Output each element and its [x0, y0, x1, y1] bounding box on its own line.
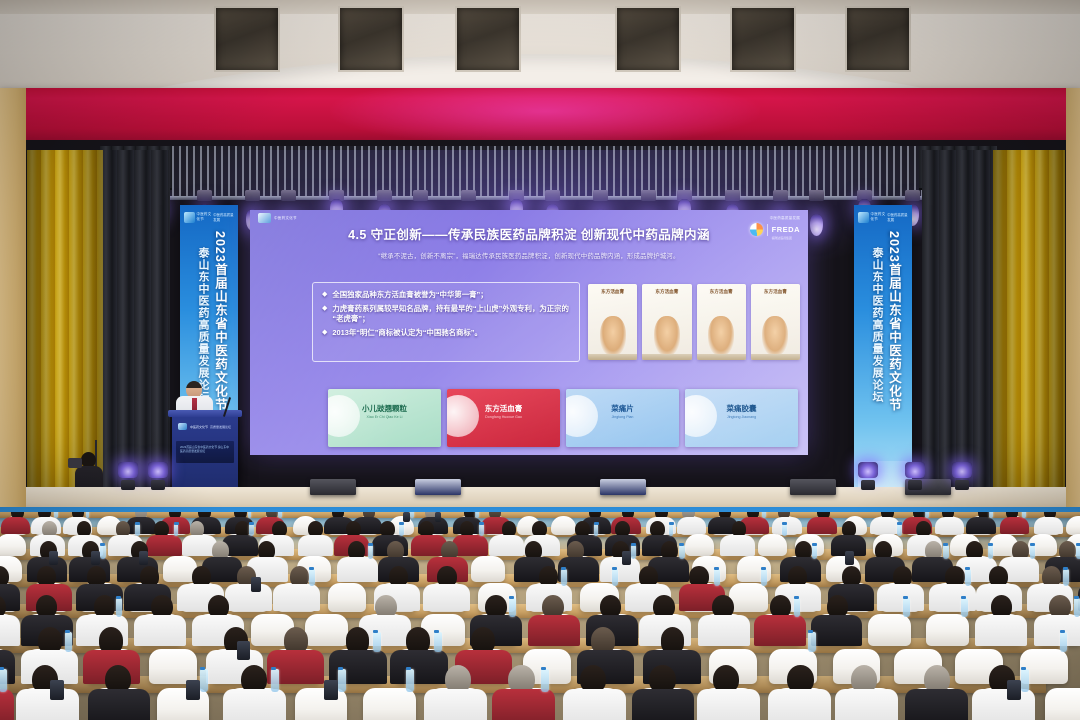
water-bottle [373, 632, 380, 653]
audience-person-torso [698, 615, 750, 646]
audience-person-torso [126, 517, 156, 535]
bottle-cap [988, 543, 993, 546]
bottle-cap [812, 543, 817, 546]
water-bottle [1030, 545, 1035, 560]
audience-seating [0, 512, 1080, 720]
ceiling-panel [455, 6, 521, 72]
audience-person-torso [225, 584, 271, 612]
water-bottle [808, 632, 815, 653]
audience-person-torso [632, 689, 695, 720]
audience-chair [328, 583, 367, 612]
moving-light-head [148, 462, 168, 478]
mobile-phone [845, 551, 854, 564]
ceiling-panel [730, 6, 796, 72]
slide-bullet-text: 全国独家品种东方活血膏被誉为“中华第一膏”； [332, 290, 487, 301]
ceiling-panel [615, 6, 681, 72]
audience-chair [685, 534, 714, 556]
audience-person-torso [134, 615, 186, 646]
right-wall [1066, 88, 1080, 533]
audience-chair [758, 534, 787, 556]
floor-monitor-speaker [415, 479, 461, 495]
bottle-cap [669, 522, 674, 525]
water-bottle [612, 569, 618, 586]
medicine-name: 菜痛胶囊 [685, 403, 798, 414]
floor-monitor-speaker [310, 479, 356, 495]
podium-band-text: 2023首届山东省中医药文化节 泰山东中医药高质量发展论坛 [176, 441, 234, 457]
audience-person-torso [600, 557, 641, 581]
moving-head-light [905, 462, 925, 490]
water-bottle [925, 512, 929, 518]
mobile-phone [237, 641, 250, 660]
freda-name: FREDA [772, 225, 800, 234]
water-bottle [897, 524, 902, 537]
audience-person-torso [1, 517, 31, 535]
audience-person-torso [273, 584, 319, 612]
bottle-cap [714, 567, 719, 570]
audience-person-torso [677, 517, 707, 535]
red-band-light-glow [330, 88, 760, 146]
audience-person-torso [835, 689, 898, 720]
audience-person-torso [492, 689, 555, 720]
audience-person-torso [390, 650, 447, 684]
medicine-name: 小儿豉翘颗粒 [328, 403, 441, 414]
water-bottle [1060, 632, 1067, 653]
bottle-cap [594, 522, 599, 525]
water-bottle [278, 512, 282, 518]
slide-bullet-text: 力虎膏药系列属较早知名品牌，持有最早的“上山虎”外观专利，为正宗的“老虎膏”； [332, 304, 570, 325]
ceiling-panel [338, 6, 404, 72]
audience-person-torso [88, 689, 151, 720]
left-banner-logo-text: 中医药文化节 [197, 212, 214, 222]
audience-chair [1045, 688, 1080, 720]
right-event-banner: 中医药文化节 中医药高质量发展 2023首届山东省中医药文化节 泰山东中医药高质… [854, 205, 912, 505]
stage-lamp-yoke [377, 190, 392, 201]
right-yellow-curtain [993, 150, 1065, 522]
ceiling-strip [0, 0, 1080, 14]
audience-chair [868, 614, 911, 646]
podium-logo-icon [178, 423, 187, 430]
water-bottle [0, 669, 7, 692]
stage-lamp-yoke [809, 190, 824, 201]
water-bottle [631, 545, 636, 560]
audience-person-torso [1034, 517, 1064, 535]
freda-tagline: 福瑞达医药集团 [772, 237, 800, 240]
bottle-cap [65, 630, 70, 633]
water-bottle [410, 512, 414, 518]
bottle-cap [200, 667, 205, 670]
podium-logo: 中医药文化节 [178, 423, 208, 430]
audience-person-torso [0, 615, 20, 646]
bottle-cap [1063, 567, 1068, 570]
stage-lamp-yoke [545, 190, 560, 201]
bottle-cap [1076, 543, 1080, 546]
audience-person-torso [298, 535, 333, 556]
mobile-phone [186, 680, 200, 700]
right-banner-title: 2023首届山东省中医药文化节 [885, 231, 904, 411]
product-package-title: 东方活血膏 [751, 289, 800, 295]
audience-chair [1066, 516, 1080, 535]
festival-logo-icon [858, 212, 869, 223]
video-camera-icon [68, 458, 82, 468]
stage-lamp-yoke [905, 190, 920, 201]
product-artwork [600, 316, 626, 356]
water-bottle [961, 598, 968, 617]
bottle-cap [561, 567, 566, 570]
bottle-cap [309, 567, 314, 570]
bottle-cap [679, 543, 684, 546]
product-package-title: 东方活血膏 [588, 289, 637, 295]
stage-lamp-yoke [197, 190, 212, 201]
podium-side-tag: 高质量发展论坛 [210, 425, 231, 429]
audience-person-torso [870, 517, 900, 535]
bottle-cap [406, 667, 411, 670]
product-bottom-bar [642, 354, 691, 360]
audience-chair [295, 688, 347, 720]
ceiling-panel [214, 6, 280, 72]
mobile-phone [403, 512, 410, 522]
water-bottle [943, 545, 948, 560]
bottle-cap [399, 522, 404, 525]
audience-person-torso [0, 689, 14, 720]
water-bottle [309, 569, 315, 586]
water-bottle [479, 524, 484, 537]
stage-lamp-yoke [461, 190, 476, 201]
water-bottle [812, 545, 817, 560]
water-bottle [1076, 545, 1080, 560]
bottle-cap [135, 522, 140, 525]
water-bottle [248, 512, 252, 518]
moving-light-base [908, 480, 922, 490]
medicine-box: 菜痛胶囊Jingtong Jiaonang [685, 389, 798, 447]
bottle-cap [631, 543, 636, 546]
bottle-cap [434, 630, 439, 633]
audience-person-torso [929, 584, 975, 612]
left-wall [0, 88, 26, 533]
audience-person-torso [877, 584, 923, 612]
bottle-cap [903, 596, 908, 599]
moving-light-base [955, 480, 969, 490]
stage-lamp-yoke [413, 190, 428, 201]
ceiling-panel [845, 6, 911, 72]
medicine-pinyin: Xiao Er Chi Qiao Ke Li [328, 415, 441, 419]
stage-lamp-yoke [245, 190, 260, 201]
product-package-title: 东方活血膏 [697, 289, 746, 295]
freda-divider [767, 224, 768, 236]
water-bottle [434, 632, 441, 653]
product-package-image: 东方活血膏 [642, 284, 691, 360]
audience-person-torso [697, 689, 760, 720]
mobile-phone [50, 680, 64, 700]
audience-chair [926, 614, 969, 646]
bottle-cap [961, 596, 966, 599]
bottle-cap [808, 630, 813, 633]
water-bottle [669, 524, 674, 537]
bottle-cap [368, 543, 373, 546]
audience-person-torso [768, 689, 831, 720]
product-artwork [654, 316, 680, 356]
water-bottle [406, 669, 414, 692]
bottle-cap [100, 543, 105, 546]
medicine-name: 东方活血膏 [447, 403, 560, 414]
left-banner-header: 中医药文化节 中医药高质量发展 [184, 209, 234, 225]
moving-light-base [121, 480, 135, 490]
freda-wordmark: FREDA 福瑞达医药集团 [772, 220, 800, 240]
water-bottle [1063, 569, 1069, 586]
bottle-cap [965, 567, 970, 570]
bottle-cap [509, 596, 514, 599]
mobile-phone [324, 680, 338, 700]
moving-light-base [861, 480, 875, 490]
mobile-phone [91, 551, 100, 564]
left-banner-corner-text: 中医药高质量发展 [213, 212, 234, 222]
bottle-cap [249, 522, 254, 525]
bullet-diamond-icon: ◆ [322, 304, 327, 325]
audience-person-torso [337, 557, 378, 581]
water-bottle [116, 598, 123, 617]
water-bottle [1074, 598, 1080, 617]
audience-person-torso [807, 517, 837, 535]
product-package-title: 东方活血膏 [642, 289, 691, 295]
medicine-pinyin: Jingtong Jiaonang [685, 415, 798, 419]
bottle-cap [373, 630, 378, 633]
moving-light-base [151, 480, 165, 490]
audience-person-torso [720, 535, 755, 556]
audience-chair [149, 649, 197, 685]
water-bottle [135, 524, 140, 537]
stage-lamp [810, 214, 823, 236]
water-bottle [368, 545, 373, 560]
water-bottle [100, 545, 105, 560]
audience-person-torso [16, 689, 79, 720]
stage-lamp-yoke [641, 190, 656, 201]
water-bottle [399, 524, 404, 537]
mobile-phone [1007, 680, 1021, 700]
festival-logo-icon [184, 212, 195, 223]
slide-header-logo-text: 中医药文化节 [274, 216, 297, 221]
audience-person-torso [811, 615, 863, 646]
water-bottle [782, 524, 787, 537]
bottle-cap [479, 522, 484, 525]
product-artwork [762, 316, 788, 356]
stage-lamp-yoke [773, 190, 788, 201]
audience-chair [363, 688, 415, 720]
water-bottle [965, 569, 971, 586]
mobile-phone [622, 551, 631, 564]
right-banner-subtitle: 泰山东中医药高质量发展论坛 [869, 247, 885, 403]
podium-logo-text: 中医药文化节 [190, 425, 208, 429]
bottle-cap [612, 567, 617, 570]
water-bottle [762, 512, 766, 518]
audience-person-torso [1034, 615, 1080, 646]
floor-monitor-speaker [600, 479, 646, 495]
stage-lamp-yoke [725, 190, 740, 201]
water-bottle [903, 598, 910, 617]
water-bottle [338, 669, 346, 692]
bottle-cap [1060, 630, 1065, 633]
slide-bullet-item: ◆全国独家品种东方活血膏被誉为“中华第一膏”； [322, 290, 570, 301]
bottle-cap [116, 596, 121, 599]
medicine-box: 东方活血膏Dongfang Huoxue Gao [447, 389, 560, 447]
product-package-image: 东方活血膏 [751, 284, 800, 360]
stage-lamp-yoke [281, 190, 296, 201]
water-bottle [679, 545, 684, 560]
bottle-cap [541, 667, 546, 670]
projection-screen: 中医药文化节 中医药高质量发展 4.5 守正创新——传承民族医药品牌积淀 创新现… [250, 210, 808, 455]
mobile-phone [435, 512, 442, 522]
audience-person-torso [563, 689, 626, 720]
slide-bullet-card: ◆全国独家品种东方活血膏被誉为“中华第一膏”；◆力虎膏药系列属较早知名品牌，持有… [312, 282, 580, 362]
mobile-phone [251, 577, 261, 592]
bottle-cap [1030, 543, 1035, 546]
water-bottle [1021, 669, 1029, 692]
audience-chair [0, 534, 26, 556]
moving-head-light [952, 462, 972, 490]
slide-bullet-text: 2013年“明仁”商标被认定为“中国驰名商标”。 [332, 328, 481, 339]
audience-person-torso [972, 689, 1035, 720]
audience-chair [551, 516, 576, 535]
audience-chair [305, 614, 348, 646]
medicine-box: 菜痛片Jingtong Pian [566, 389, 679, 447]
bottle-cap [271, 667, 276, 670]
bottle-cap [1021, 667, 1026, 670]
right-banner-logo-text: 中医药文化节 [871, 212, 888, 222]
moving-head-light [118, 462, 138, 490]
water-bottle [714, 569, 720, 586]
water-bottle [761, 569, 767, 586]
audience-person-torso [223, 689, 286, 720]
slide-bullet-item: ◆力虎膏药系列属较早知名品牌，持有最早的“上山虎”外观专利，为正宗的“老虎膏”； [322, 304, 570, 325]
slide-medicine-boxes: 小儿豉翘颗粒Xiao Er Chi Qiao Ke Li东方活血膏Dongfan… [328, 389, 798, 447]
medicine-pinyin: Dongfang Huoxue Gao [447, 415, 560, 419]
audience-person-torso [772, 517, 802, 535]
left-banner-subtitle: 泰山东中医药高质量发展论坛 [195, 247, 211, 403]
moving-light-head [118, 462, 138, 478]
water-bottle [988, 545, 993, 560]
moving-light-head [905, 462, 925, 478]
water-bottle [594, 524, 599, 537]
slide-title: 4.5 守正创新——传承民族医药品牌积淀 创新现代中药品牌内涵 [250, 224, 808, 243]
moving-head-light [858, 462, 878, 490]
bottle-cap [174, 522, 179, 525]
medicine-box: 小儿豉翘颗粒Xiao Er Chi Qiao Ke Li [328, 389, 441, 447]
bottle-cap [943, 543, 948, 546]
product-artwork [708, 316, 734, 356]
water-bottle [200, 669, 208, 692]
water-bottle [86, 512, 90, 518]
freda-mark-icon [750, 223, 763, 236]
audience-person-torso [146, 535, 181, 556]
freda-brand-logo: FREDA 福瑞达医药集团 [750, 220, 800, 240]
water-bottle [271, 669, 279, 692]
medicine-name: 菜痛片 [566, 403, 679, 414]
right-banner-header: 中医药文化节 中医药高质量发展 [858, 209, 908, 225]
audience-person-torso [935, 517, 965, 535]
bottle-cap [761, 567, 766, 570]
bullet-diamond-icon: ◆ [322, 328, 327, 339]
bottle-cap [794, 596, 799, 599]
podium-band: 2023首届山东省中医药文化节 泰山东中医药高质量发展论坛 [176, 441, 234, 463]
water-bottle [174, 524, 179, 537]
moving-head-light [148, 462, 168, 490]
bottle-cap [897, 522, 902, 525]
slide-subtitle: “继承不泥古，创新不离宗”，福瑞达传承民族医药品牌积淀，创新现代中药品牌内涵，形… [278, 251, 780, 260]
moving-light-head [858, 462, 878, 478]
audience-person-torso [424, 689, 487, 720]
slide-product-images: 东方活血膏东方活血膏东方活血膏东方活血膏 [588, 284, 800, 360]
slide-bullet-item: ◆2013年“明仁”商标被认定为“中国驰名商标”。 [322, 328, 570, 339]
podium-top-surface [168, 410, 242, 417]
bottle-cap [1074, 596, 1079, 599]
audience-chair [157, 688, 209, 720]
audience-person-torso [528, 615, 580, 646]
audience-chair [729, 583, 768, 612]
audience-person-torso [975, 615, 1027, 646]
audience-person-torso [1000, 517, 1030, 535]
audience-person-torso [966, 517, 996, 535]
conference-hall-photo: 中医药文化节 中医药高质量发展 2023首届山东省中医药文化节 泰山东中医药高质… [0, 0, 1080, 720]
mobile-phone [139, 551, 148, 564]
floor-monitor-speaker [790, 479, 836, 495]
bullet-diamond-icon: ◆ [322, 290, 327, 301]
slide-festival-logo-icon [258, 213, 271, 223]
water-bottle [561, 569, 567, 586]
right-banner-corner-text: 中医药高质量发展 [887, 212, 908, 222]
water-bottle [794, 598, 801, 617]
water-bottle [989, 512, 993, 518]
bottle-cap [782, 522, 787, 525]
audience-person-torso [905, 689, 968, 720]
bottle-cap [0, 667, 4, 670]
audience-person-torso [423, 584, 469, 612]
product-bottom-bar [588, 354, 637, 360]
water-bottle [475, 512, 479, 518]
audience-person-torso [489, 535, 524, 556]
product-package-image: 东方活血膏 [697, 284, 746, 360]
stage-lamp-yoke [593, 190, 608, 201]
water-bottle [249, 524, 254, 537]
water-bottle [509, 598, 516, 617]
left-banner-title: 2023首届山东省中医药文化节 [211, 231, 230, 411]
bottle-cap [338, 667, 343, 670]
water-bottle [54, 512, 58, 518]
product-bottom-bar [751, 354, 800, 360]
audience-person-torso [754, 615, 806, 646]
water-bottle [65, 632, 72, 653]
water-bottle [541, 669, 549, 692]
moving-light-head [952, 462, 972, 478]
product-bottom-bar [697, 354, 746, 360]
audience-chair [471, 556, 505, 582]
medicine-pinyin: Jingtong Pian [566, 415, 679, 419]
mobile-phone [49, 551, 58, 564]
product-package-image: 东方活血膏 [588, 284, 637, 360]
